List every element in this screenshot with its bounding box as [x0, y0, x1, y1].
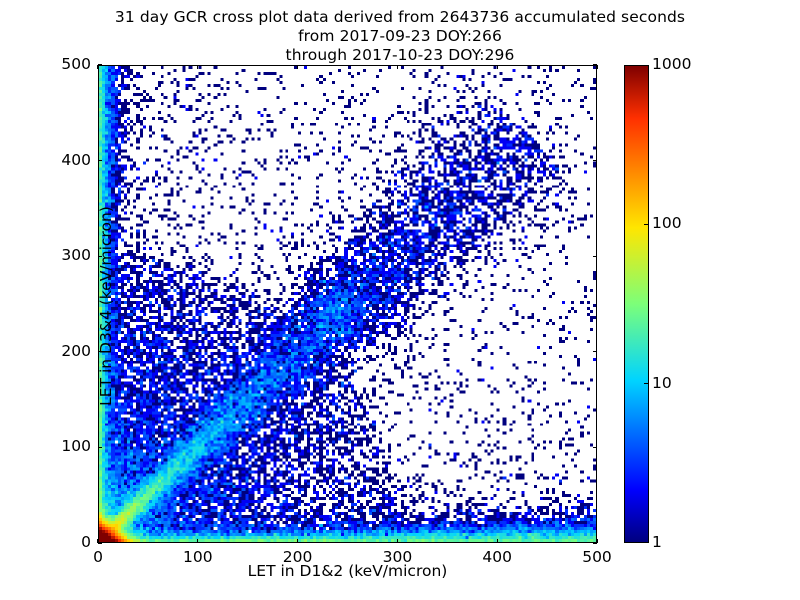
- colorbar-tick-label: 1: [652, 533, 662, 551]
- y-tick-label: 400: [6, 151, 91, 169]
- colorbar-tick-label: 1000: [652, 55, 691, 73]
- title-line-1: 31 day GCR cross plot data derived from …: [0, 8, 800, 27]
- x-axis-label: LET in D1&2 (keV/micron): [98, 562, 597, 580]
- x-tick-mark-top: [197, 65, 198, 69]
- y-tick-label: 200: [6, 342, 91, 360]
- x-tick-mark: [197, 539, 198, 543]
- x-tick-mark-top: [397, 65, 398, 69]
- x-tick-mark-top: [596, 65, 597, 69]
- colorbar-tick-label: 100: [652, 214, 682, 232]
- y-tick-mark-right: [593, 160, 597, 161]
- colorbar-tick-label: 10: [652, 374, 672, 392]
- colorbar: [624, 65, 649, 543]
- colorbar-tick-mark: [644, 383, 649, 384]
- x-tick-mark: [596, 539, 597, 543]
- y-axis-label: LET in D3&4 (keV/micron): [97, 67, 115, 545]
- y-tick-label: 300: [6, 246, 91, 264]
- plot-axes: [98, 65, 597, 543]
- y-tick-mark-right: [593, 351, 597, 352]
- density-heatmap: [99, 66, 596, 542]
- x-tick-mark: [497, 539, 498, 543]
- title-line-2: from 2017-09-23 DOY:266: [0, 27, 800, 46]
- x-tick-mark-top: [297, 65, 298, 69]
- x-tick-mark: [397, 539, 398, 543]
- x-tick-mark-top: [497, 65, 498, 69]
- gcr-cross-plot-figure: 31 day GCR cross plot data derived from …: [0, 0, 800, 600]
- colorbar-tick-mark: [644, 224, 649, 225]
- y-tick-mark-right: [593, 256, 597, 257]
- y-tick-label: 500: [6, 55, 91, 73]
- x-tick-mark: [297, 539, 298, 543]
- y-tick-label: 100: [6, 437, 91, 455]
- y-tick-mark-right: [593, 447, 597, 448]
- colorbar-gradient: [625, 66, 648, 542]
